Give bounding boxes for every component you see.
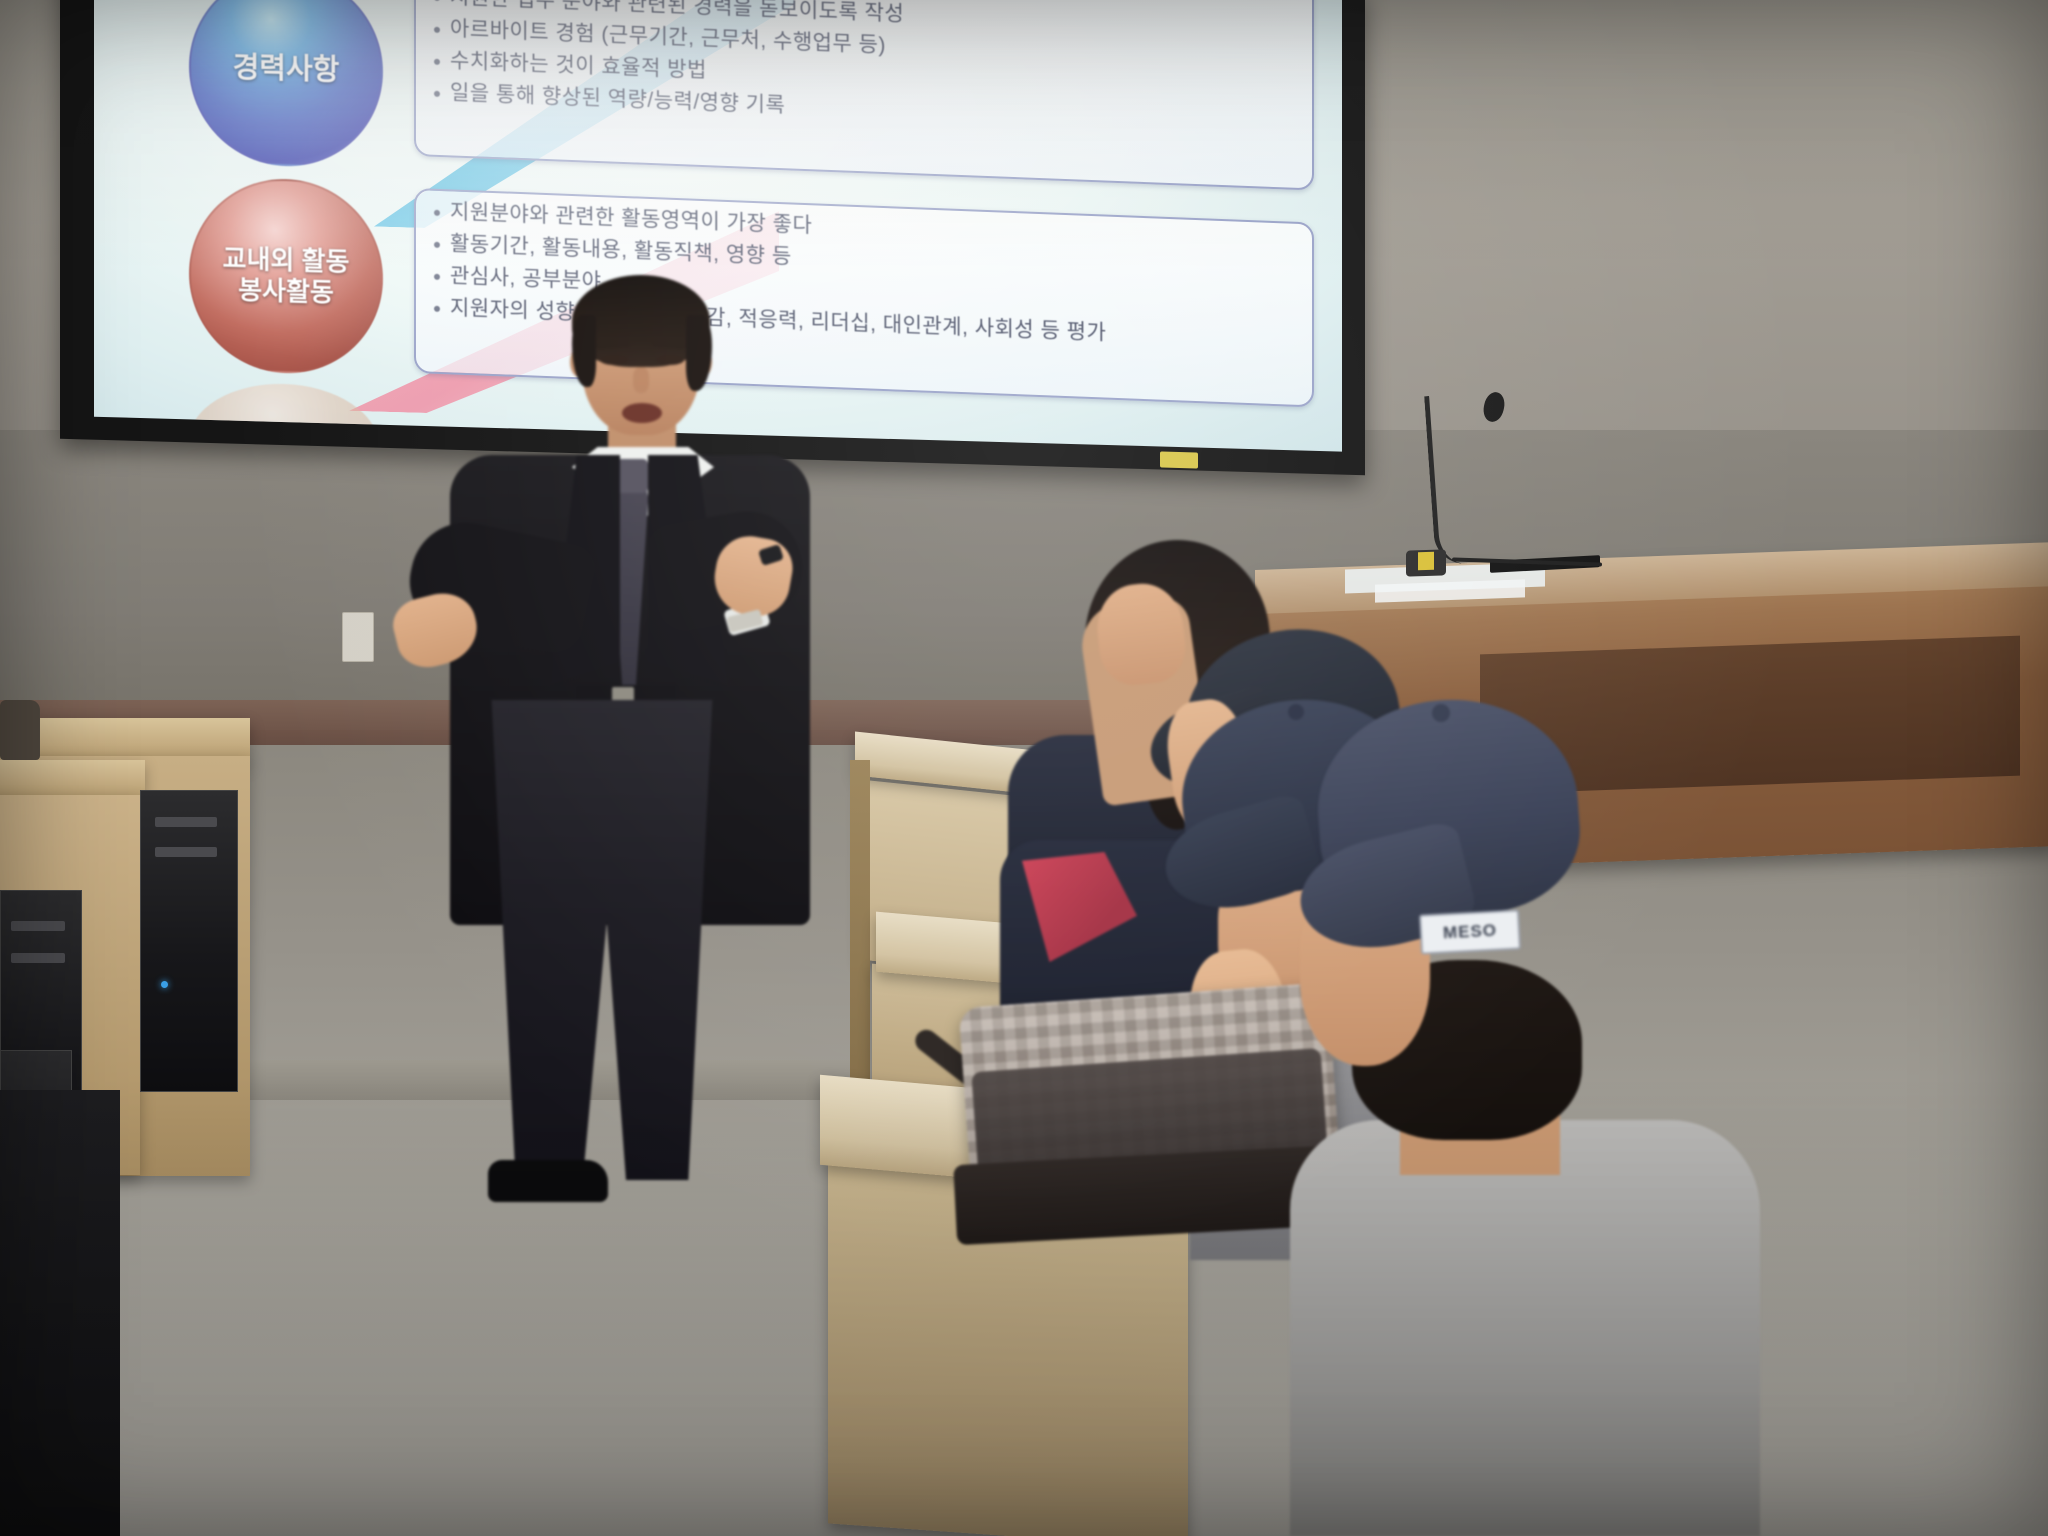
computer-tower bbox=[140, 790, 238, 1092]
presenter-nose bbox=[633, 367, 649, 393]
power-led-icon bbox=[161, 981, 168, 988]
cap-top-button bbox=[1288, 704, 1304, 720]
drive-slot bbox=[155, 817, 217, 827]
bubble-career-label: 경력사항 bbox=[233, 50, 340, 87]
presenter-shoe bbox=[488, 1160, 608, 1202]
drive-slot bbox=[11, 953, 65, 963]
bubble-activity-label-line2: 봉사활동 bbox=[223, 274, 350, 308]
bubble-activity-label-line1: 교내외 활동 bbox=[223, 244, 350, 278]
wall-socket bbox=[342, 612, 374, 662]
bullet-dot-icon bbox=[434, 210, 440, 216]
drive-slot bbox=[11, 921, 65, 931]
bullet-dot-icon bbox=[434, 242, 440, 248]
screen-bottom-tab bbox=[1160, 451, 1198, 468]
classroom-photo: 경력사항 교내외 활동 봉사활동 자신이 경험한 경력 사항, 소속부서, 담당… bbox=[0, 0, 2048, 1536]
slide-bubble-partial bbox=[189, 381, 379, 451]
slide-bubble-activity: 교내외 활동 봉사활동 bbox=[189, 176, 383, 375]
bullet-dot-icon bbox=[434, 27, 440, 33]
presenter-eye bbox=[600, 355, 628, 365]
student-tshirt bbox=[1290, 1120, 1760, 1536]
presenter-tie-knot bbox=[616, 459, 648, 493]
slide-textbox-career: 자신이 경험한 경력 사항, 소속부서, 담당업무 기재 지원한 업무 분야와 … bbox=[414, 0, 1314, 191]
cap-top-button bbox=[1432, 704, 1450, 722]
cap-brand-label: MESO bbox=[1419, 909, 1521, 954]
desk-side-object bbox=[0, 700, 40, 760]
bullet-dot-icon bbox=[434, 59, 440, 65]
drive-slot bbox=[155, 847, 217, 857]
presenter-mouth bbox=[622, 403, 662, 423]
left-shadow-block bbox=[0, 1090, 120, 1536]
microphone-base-tag bbox=[1418, 552, 1434, 571]
presenter-hair bbox=[686, 315, 712, 391]
bullet-dot-icon bbox=[434, 0, 440, 1]
presenter-eye bbox=[656, 355, 684, 365]
student-desk bbox=[0, 760, 145, 800]
presenter-trousers bbox=[482, 700, 722, 1180]
presenter bbox=[390, 275, 790, 1536]
slide-bubble-career: 경력사항 bbox=[189, 0, 383, 169]
bullet-dot-icon bbox=[434, 91, 440, 97]
